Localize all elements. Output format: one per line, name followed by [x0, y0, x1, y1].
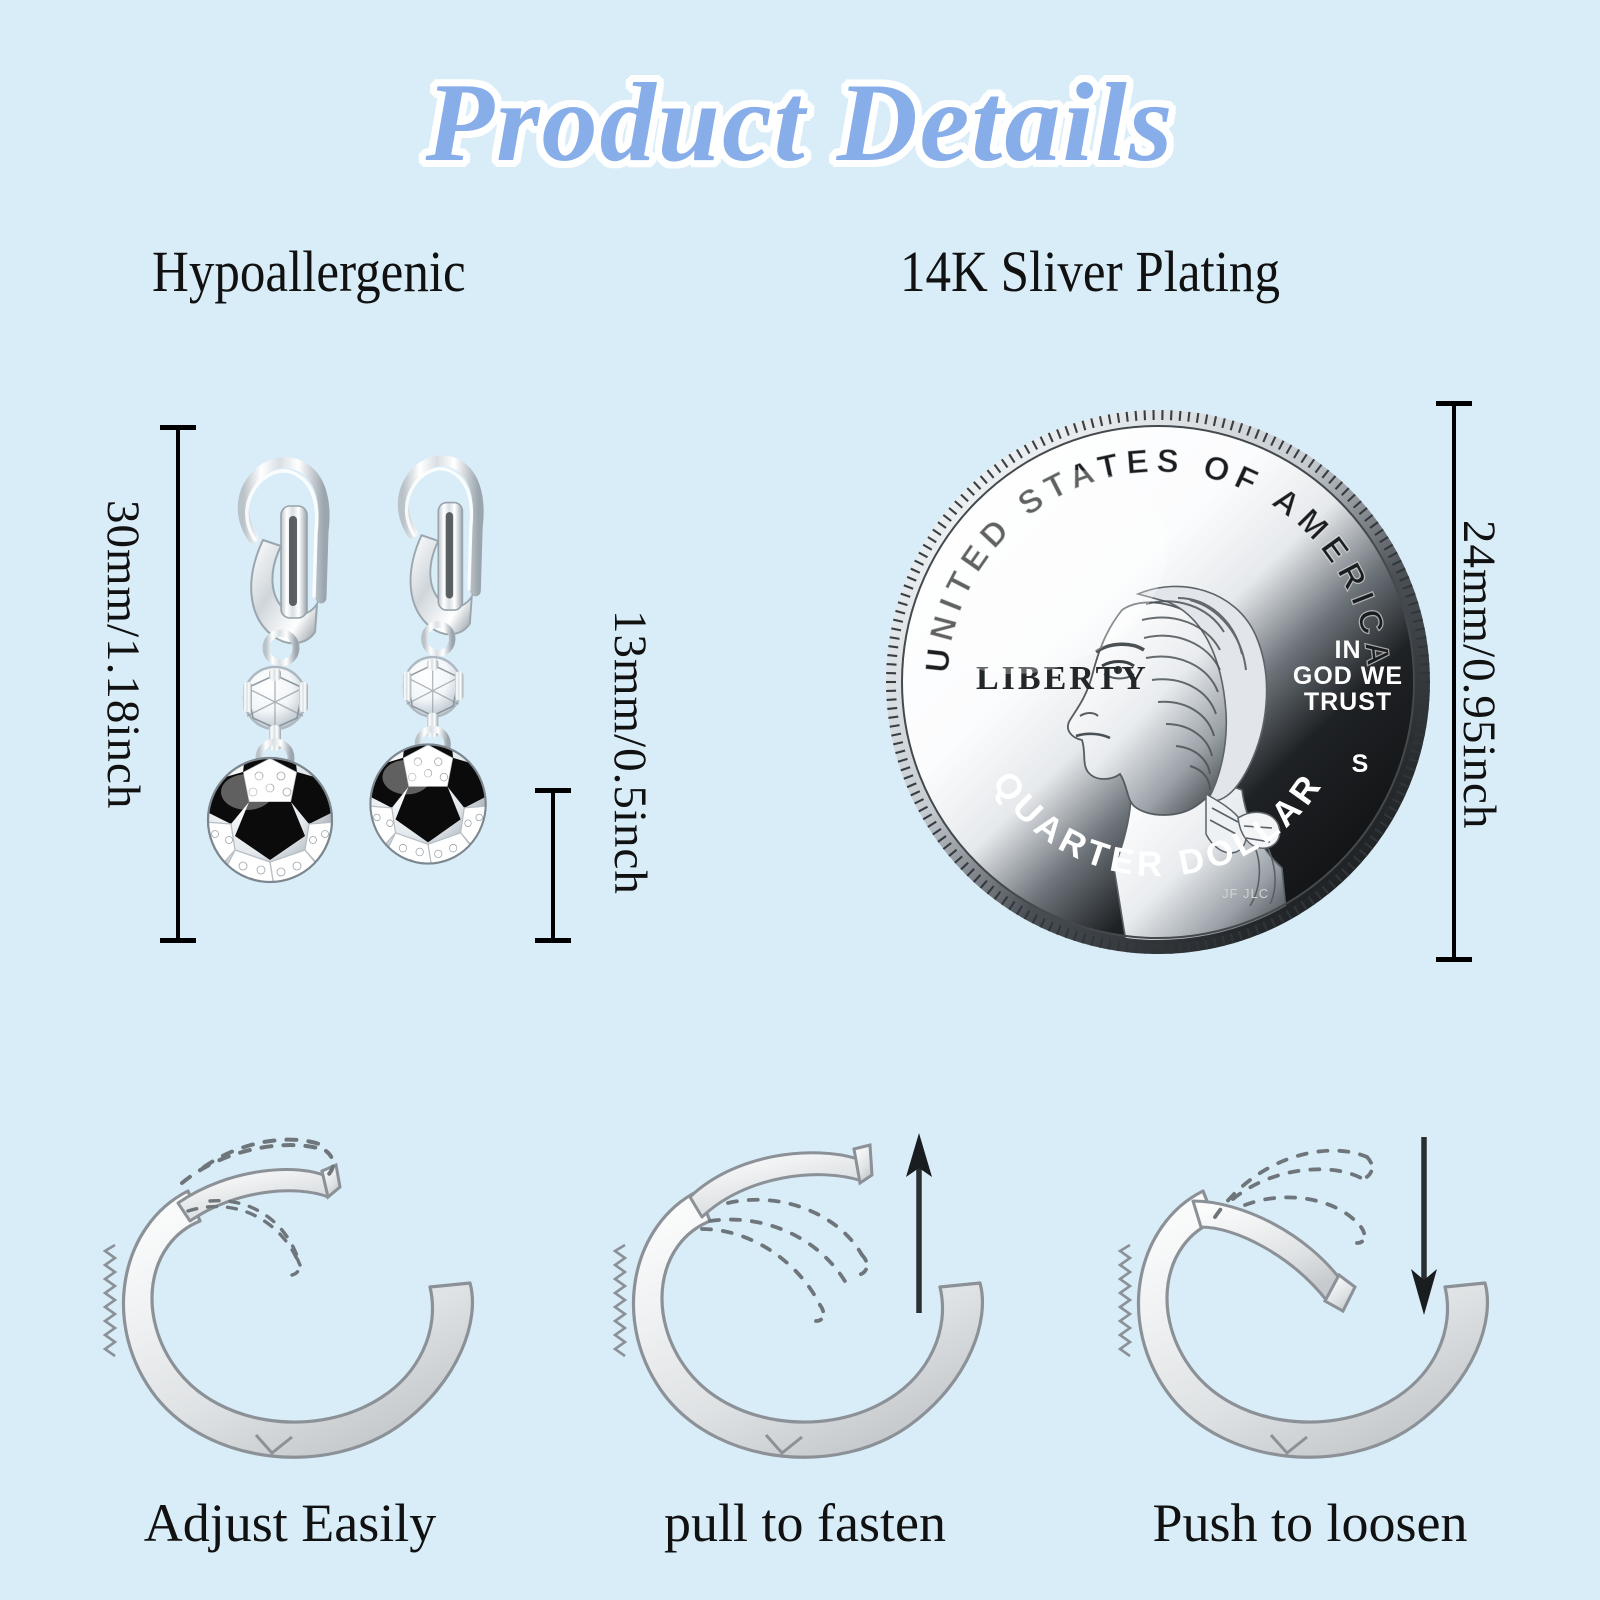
- cz-stone-right: [403, 657, 463, 717]
- soccer-ball-right: [358, 733, 498, 908]
- cz-stone-left: [243, 667, 308, 729]
- earrings-svg: [185, 420, 535, 980]
- arrow-down-icon: [1411, 1137, 1437, 1315]
- svg-text:TRUST: TRUST: [1304, 688, 1392, 716]
- caption-push-to-loosen: Push to loosen: [1075, 1492, 1545, 1554]
- section-heading-plating: 14K Sliver Plating: [900, 238, 1280, 305]
- measure-label-ball-size: 13mm/0.5inch: [603, 610, 657, 895]
- coin-svg: JF JLC UNITED STATES OF AMERICA UNITED S…: [868, 392, 1448, 972]
- soccer-ball-left: [195, 746, 345, 928]
- clasp-diagram-adjust-easily: [60, 1105, 530, 1475]
- caption-adjust-easily: Adjust Easily: [55, 1492, 525, 1554]
- earrings-illustration: [185, 420, 535, 980]
- coin-designer-initials: JF JLC: [1222, 886, 1269, 901]
- quarter-dollar-coin: JF JLC UNITED STATES OF AMERICA UNITED S…: [868, 392, 1448, 972]
- motion-arc-dashed: [702, 1200, 867, 1321]
- page-title-container: Product Details: [0, 62, 1600, 185]
- caption-pull-to-fasten: pull to fasten: [570, 1492, 1040, 1554]
- clasp-diagram-pull-to-fasten: [570, 1105, 1040, 1475]
- measure-line-ball-size: [551, 788, 555, 943]
- measure-label-coin-size: 24mm/0.95inch: [1452, 520, 1506, 829]
- serrated-edge: [105, 1245, 115, 1356]
- coin-mint-mark: S: [1352, 750, 1369, 778]
- earring-left: [195, 463, 355, 980]
- page-title: Product Details: [426, 62, 1175, 185]
- clasp-diagram-push-to-loosen: [1075, 1105, 1545, 1475]
- arrow-up-icon: [906, 1133, 932, 1313]
- svg-text:GOD WE: GOD WE: [1293, 662, 1403, 690]
- serrated-edge: [615, 1245, 625, 1356]
- earring-right: [358, 461, 498, 980]
- section-heading-hypoallergenic: Hypoallergenic: [152, 238, 466, 305]
- svg-text:IN: IN: [1335, 636, 1362, 664]
- measure-label-earring-height: 30mm/1.18inch: [96, 500, 150, 809]
- measure-line-earring-height: [176, 425, 180, 943]
- serrated-edge: [1120, 1245, 1130, 1356]
